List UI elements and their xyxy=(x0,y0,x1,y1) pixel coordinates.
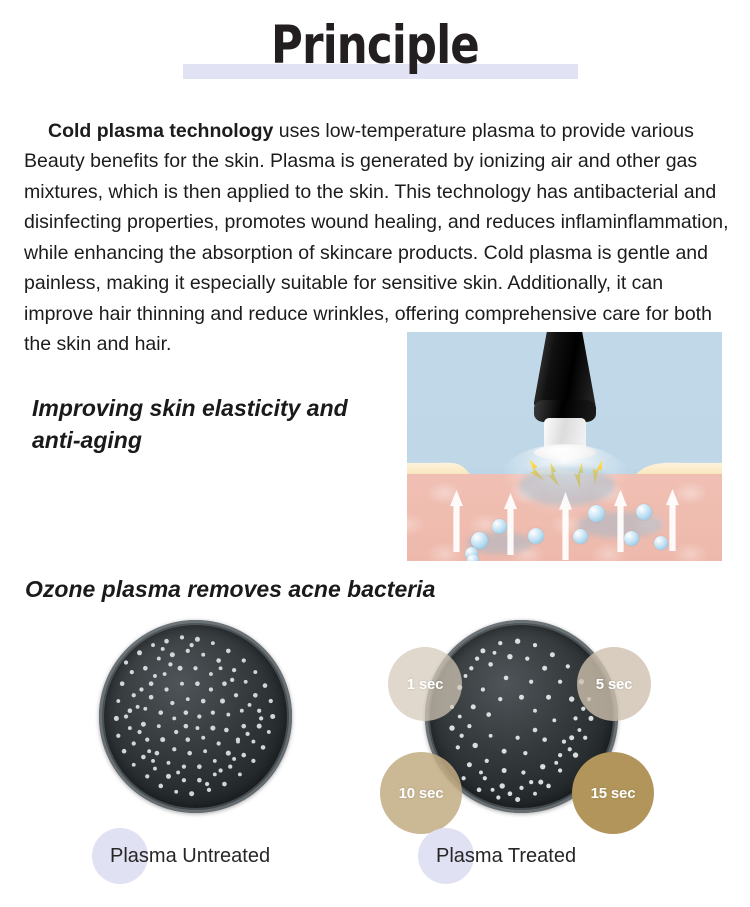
exposure-badge-10sec: 10 sec xyxy=(380,752,462,834)
skincare-particle xyxy=(654,536,668,550)
skincare-particle xyxy=(492,519,507,534)
exposure-badge-15sec: 15 sec xyxy=(572,752,654,834)
page-header: Principle xyxy=(0,8,750,86)
caption-plasma-untreated: Plasma Untreated xyxy=(110,845,270,868)
page-title: Principle xyxy=(68,16,683,76)
petri-dish-rim xyxy=(99,620,292,813)
exposure-badge-5sec: 5 sec xyxy=(577,647,651,721)
skin-cross-section-illustration xyxy=(407,332,722,561)
intro-lead-bold: Cold plasma technology xyxy=(48,120,273,142)
petri-dish-untreated xyxy=(99,620,292,813)
skincare-particle xyxy=(588,505,605,522)
skincare-particle xyxy=(573,529,588,544)
heading-ozone-plasma: Ozone plasma removes acne bacteria xyxy=(25,576,435,603)
heading-improving-skin-elasticity: Improving skin elasticity and anti-aging xyxy=(32,392,392,456)
intro-paragraph: Cold plasma technology uses low-temperat… xyxy=(24,116,730,360)
intro-body-text: uses low-temperature plasma to provide v… xyxy=(24,120,729,356)
skincare-particle xyxy=(528,528,544,544)
exposure-badge-1sec: 1 sec xyxy=(388,647,462,721)
caption-plasma-treated: Plasma Treated xyxy=(436,845,576,868)
skincare-particle xyxy=(467,554,479,561)
skincare-particle xyxy=(636,504,652,520)
skincare-particle xyxy=(624,531,639,546)
